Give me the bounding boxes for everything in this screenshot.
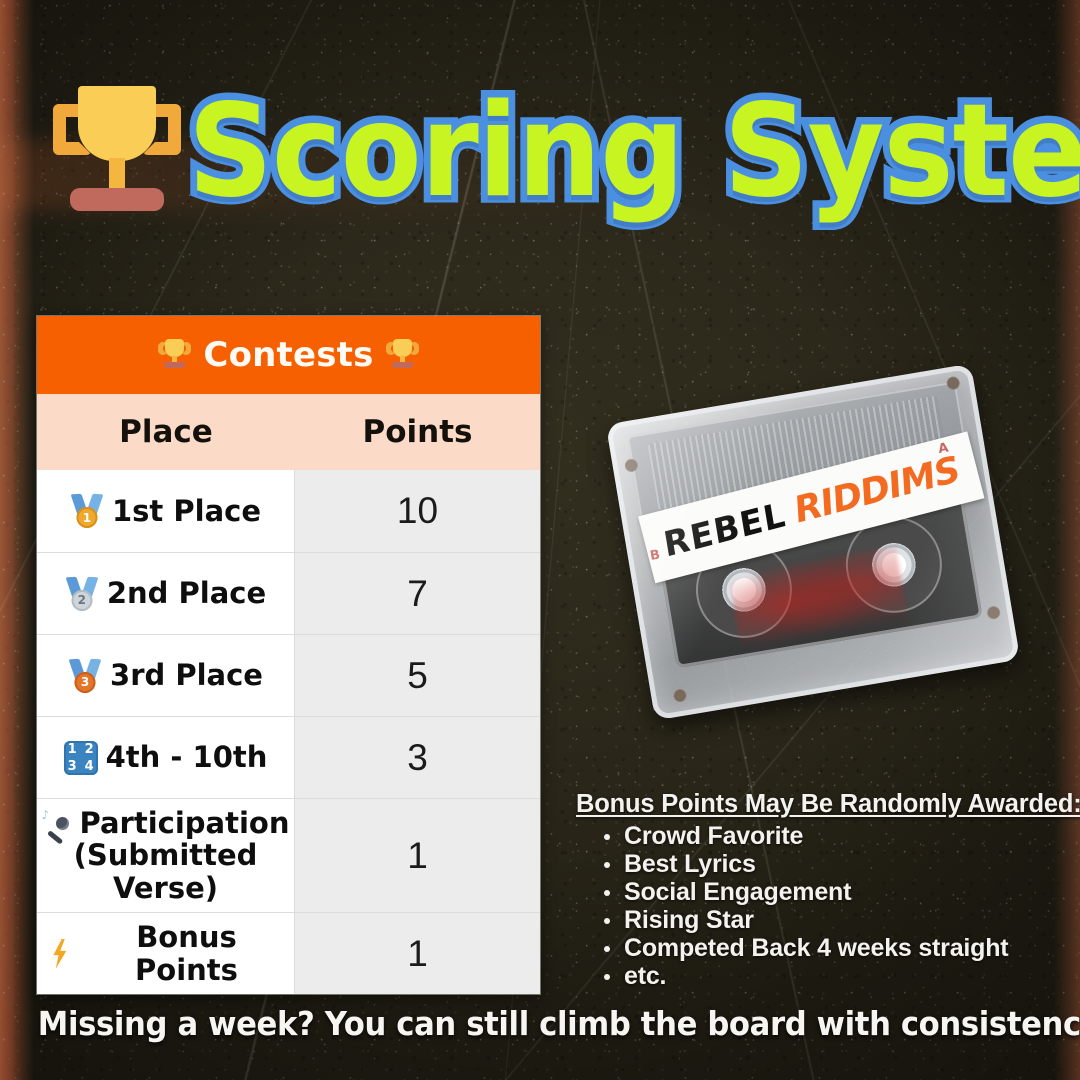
table-row: Bonus Points 1: [37, 912, 540, 994]
list-item: Social Engagement: [602, 878, 1068, 906]
column-header-place: Place: [37, 394, 295, 470]
list-item: etc.: [602, 962, 1068, 990]
microphone-icon: ♪: [42, 808, 72, 838]
cell-place: 2 2nd Place: [37, 553, 295, 634]
poster-header: Scoring System: [0, 72, 1080, 232]
bronze-medal-icon: 3: [68, 659, 102, 693]
input-numbers-icon: 1234: [64, 741, 98, 775]
bonus-points-list: Crowd Favorite Best Lyrics Social Engage…: [602, 822, 1068, 990]
place-label: 1st Place: [112, 495, 261, 527]
cell-points: 7: [295, 553, 540, 634]
cell-place: 3 3rd Place: [37, 635, 295, 716]
place-label: 2nd Place: [107, 577, 266, 609]
contests-scoring-table: Contests Place Points 1 1st Place: [36, 315, 541, 995]
gold-medal-icon: 1: [70, 494, 104, 528]
silver-medal-icon: 2: [65, 577, 99, 611]
cassette-screw: [986, 605, 1001, 620]
cell-points: 1: [295, 913, 540, 994]
table-column-headers: Place Points: [37, 394, 540, 470]
scoring-system-poster: Scoring System Contests Place Points: [0, 0, 1080, 1080]
table-row: ♪ Participation (Submitted Verse) 1: [37, 798, 540, 912]
cell-place: 1 1st Place: [37, 470, 295, 552]
place-label-secondary: (Submitted Verse): [42, 839, 290, 904]
column-header-points: Points: [295, 394, 540, 470]
table-row: 1234 4th - 10th 3: [37, 716, 540, 798]
cell-points: 5: [295, 635, 540, 716]
table-row: 2 2nd Place 7: [37, 552, 540, 634]
cell-points: 10: [295, 470, 540, 552]
cell-points: 3: [295, 717, 540, 798]
cell-place: Bonus Points: [37, 913, 295, 994]
table-caption: Contests: [37, 316, 540, 394]
trophy-icon: [157, 338, 191, 372]
cell-points: 1: [295, 799, 540, 912]
cell-place: 1234 4th - 10th: [37, 717, 295, 798]
list-item: Competed Back 4 weeks straight: [602, 934, 1068, 962]
place-label: 4th - 10th: [106, 741, 268, 773]
page-title: Scoring System: [188, 88, 1080, 216]
cassette-tape-image: REBEL RIDDIMS B A: [606, 364, 1020, 721]
list-item: Rising Star: [602, 906, 1068, 934]
footer-note: Missing a week? You can still climb the …: [38, 1004, 1042, 1043]
bonus-points-heading: Bonus Points May Be Randomly Awarded:: [576, 790, 1068, 819]
cassette-screw: [673, 688, 688, 703]
list-item: Crowd Favorite: [602, 822, 1068, 850]
list-item: Best Lyrics: [602, 850, 1068, 878]
cassette-body: REBEL RIDDIMS B A: [606, 364, 1020, 721]
lightning-bolt-icon: [43, 937, 77, 971]
place-label: Participation: [80, 807, 290, 839]
place-label: Bonus Points: [85, 921, 288, 986]
cell-place: ♪ Participation (Submitted Verse): [37, 799, 295, 912]
trophy-icon: [386, 338, 420, 372]
table-row: 1 1st Place 10: [37, 470, 540, 552]
table-caption-label: Contests: [203, 335, 373, 375]
trophy-icon: [52, 77, 182, 227]
place-label: 3rd Place: [110, 659, 263, 691]
bonus-points-section: Bonus Points May Be Randomly Awarded: Cr…: [576, 790, 1068, 990]
table-row: 3 3rd Place 5: [37, 634, 540, 716]
